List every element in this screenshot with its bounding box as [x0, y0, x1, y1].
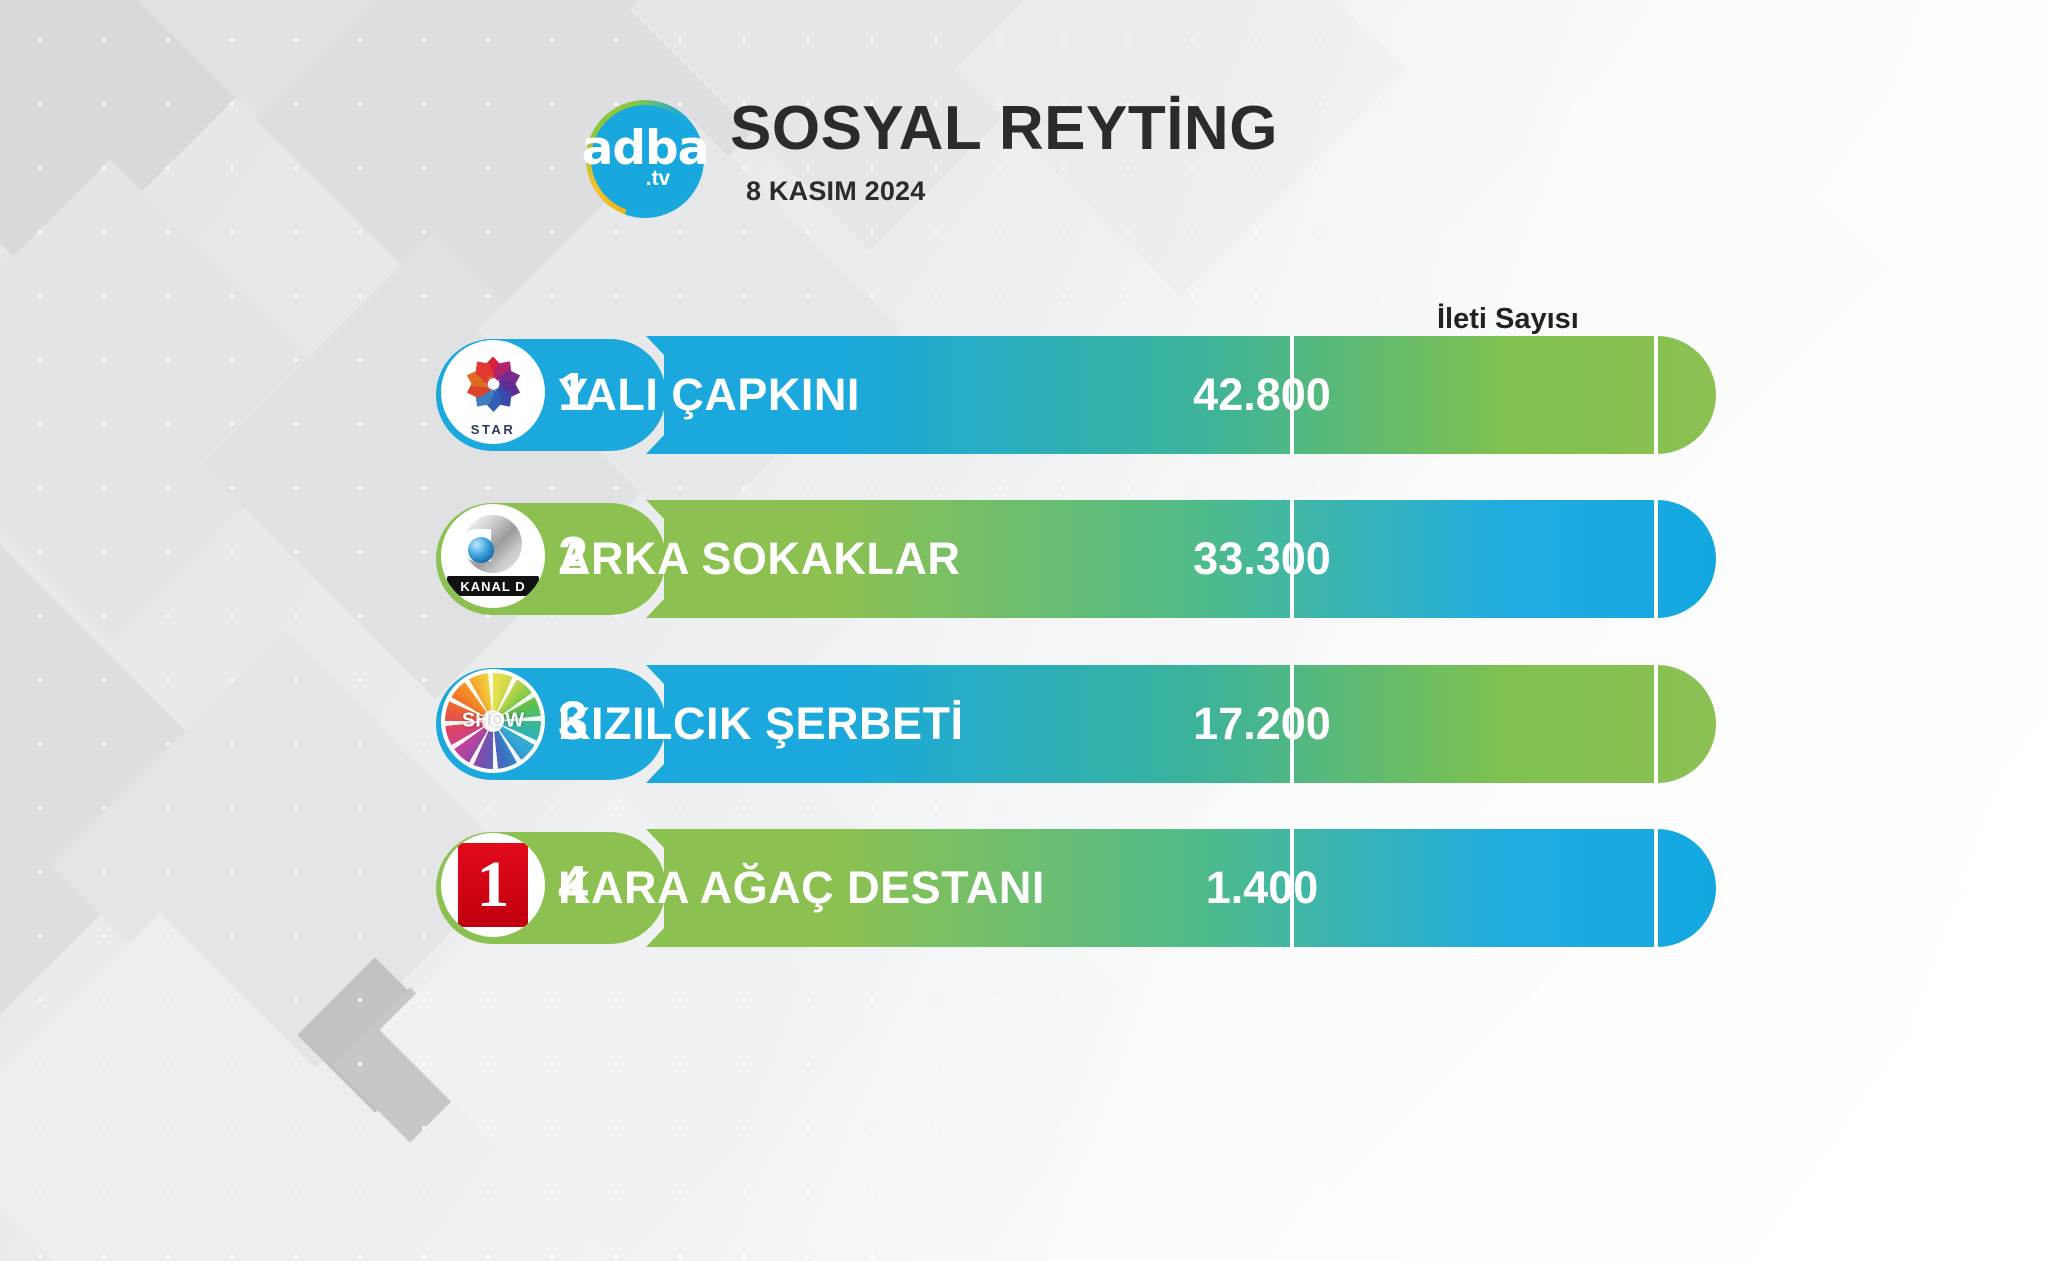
program-name: KIZILCIK ŞERBETİ — [558, 665, 964, 783]
bar-divider — [1654, 336, 1658, 454]
message-count-value: 33.300 — [1080, 500, 1444, 618]
kanal-d-wordmark: KANAL D — [447, 576, 539, 596]
kanal-d-sphere — [468, 537, 494, 563]
program-name: YALI ÇAPKINI — [558, 336, 860, 454]
bar-divider — [1654, 500, 1658, 618]
rank-number: 4 — [558, 829, 588, 941]
adba-logo-icon: adba .tv — [586, 100, 704, 218]
show-tv-wordmark: SHOW — [445, 710, 541, 733]
program-name: ARKA SOKAKLAR — [558, 500, 960, 618]
channel-logo[interactable]: 1 — [441, 833, 545, 937]
rank-number: 3 — [558, 665, 588, 777]
ranking-row[interactable]: ARKA SOKAKLAR 33.300 KANAL D 2 — [436, 500, 1716, 618]
page-title: SOSYAL REYTİNG — [730, 98, 1278, 160]
ranking-row[interactable]: KARA AĞAÇ DESTANI 1.400 1 4 — [436, 829, 1716, 947]
logo-word: adba — [582, 129, 709, 169]
rank-number: 2 — [558, 500, 588, 612]
header: adba .tv SOSYAL REYTİNG 8 KASIM 2024 — [586, 96, 1278, 218]
bar-divider — [1654, 829, 1658, 947]
ranking-row[interactable]: KIZILCIK ŞERBETİ 17.200 SHOW 3 — [436, 665, 1716, 783]
trt1-logo-icon: 1 — [458, 843, 528, 927]
logo-tld: .tv — [646, 168, 671, 189]
rank-number: 1 — [558, 336, 588, 448]
message-count-value: 17.200 — [1080, 665, 1444, 783]
channel-logo[interactable]: KANAL D — [441, 504, 545, 608]
bar-divider — [1654, 665, 1658, 783]
star-tv-logo-icon: STAR — [446, 345, 540, 439]
message-count-value: 1.400 — [1080, 829, 1444, 947]
header-text-block: SOSYAL REYTİNG 8 KASIM 2024 — [730, 96, 1278, 207]
trt1-numeral: 1 — [477, 852, 510, 918]
channel-logo[interactable]: STAR — [441, 340, 545, 444]
star-tv-wordmark: STAR — [446, 422, 540, 437]
ranking-row[interactable]: YALI ÇAPKINI 42.800 STAR 1 — [436, 336, 1716, 454]
page-date: 8 KASIM 2024 — [746, 176, 1278, 207]
show-tv-logo-icon: SHOW — [445, 673, 541, 769]
kanal-d-logo-icon: KANAL D — [444, 507, 542, 605]
program-name: KARA AĞAÇ DESTANI — [558, 829, 1045, 947]
value-column-header: İleti Sayısı — [1437, 303, 1579, 336]
message-count-value: 42.800 — [1080, 336, 1444, 454]
channel-logo[interactable]: SHOW — [441, 669, 545, 773]
logo-wordmark: adba .tv — [586, 100, 704, 218]
